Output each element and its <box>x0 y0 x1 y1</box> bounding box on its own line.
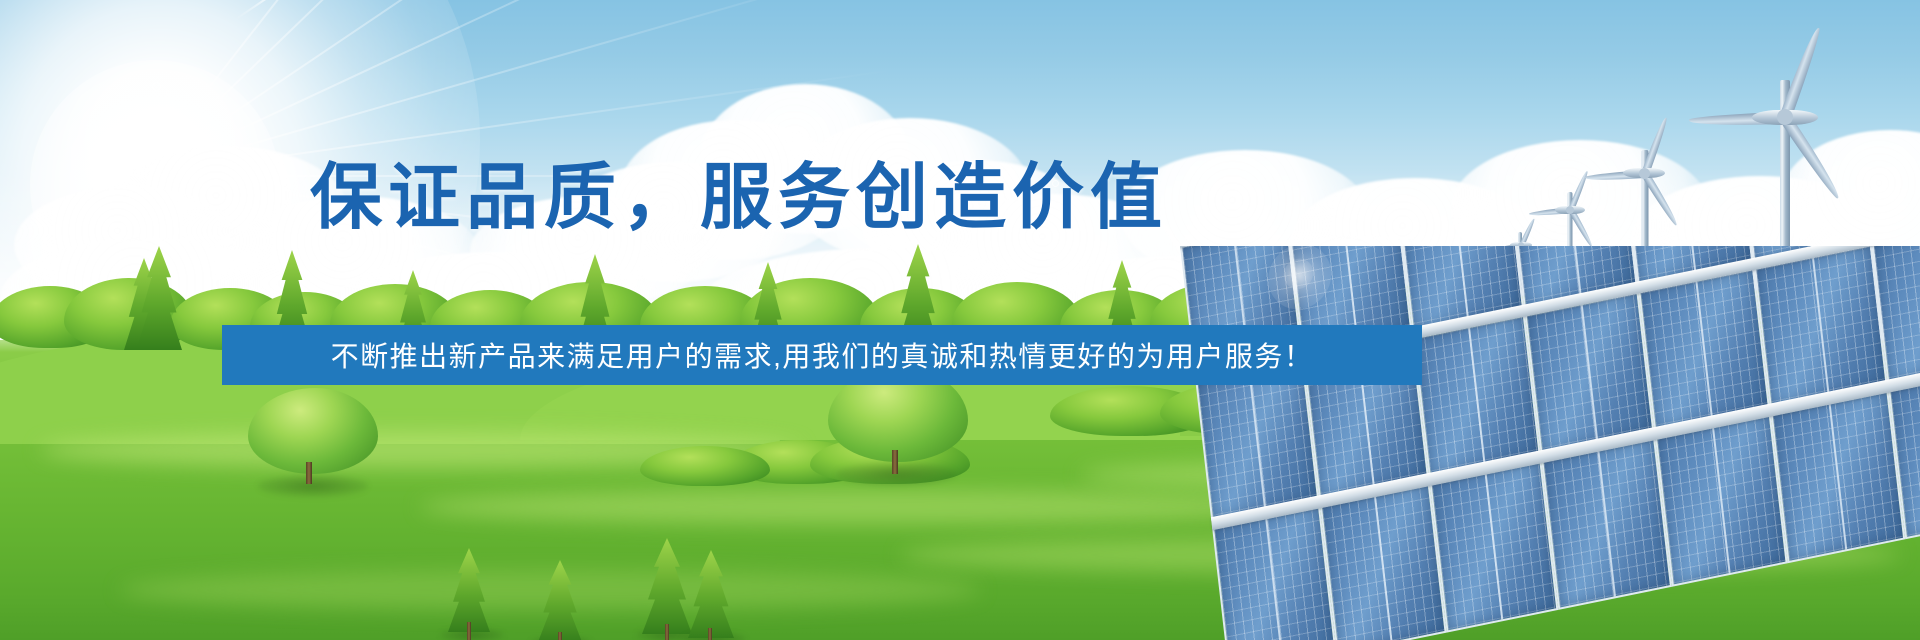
solar-panel <box>1320 483 1447 640</box>
lens-flare-dot <box>166 90 171 95</box>
panel-cell-split <box>1374 496 1393 640</box>
tree-trunk <box>708 628 712 640</box>
tree-shadow <box>258 475 368 497</box>
solar-array-inner <box>1180 246 1920 640</box>
tree-trunk <box>892 450 898 474</box>
turbine-hub <box>1777 109 1793 125</box>
tree-trunk <box>306 462 312 484</box>
page-title: 保证品质，服务创造价值 <box>310 162 1168 234</box>
panel-cell-split <box>1565 246 1581 295</box>
panel-cell-split <box>1453 246 1469 318</box>
tree-trunk <box>467 622 471 640</box>
panel-cell-split <box>1680 246 1696 272</box>
panel-cell-split <box>1485 473 1504 619</box>
panel-cell-split <box>1249 372 1266 508</box>
turbine-hub <box>1639 168 1650 179</box>
panel-cell-split <box>1597 451 1616 597</box>
panel-cell-split <box>1581 305 1598 441</box>
solar-panel <box>1413 315 1541 477</box>
solar-panel <box>1541 437 1672 610</box>
solar-panel-array <box>1180 246 1920 640</box>
tree-trunk <box>665 624 669 640</box>
solar-panel <box>1655 414 1788 587</box>
subtitle-bar: 不断推出新产品来满足用户的需求,用我们的真诚和热情更好的为用户服务！ <box>222 325 1422 385</box>
panel-cell-split <box>1812 258 1829 394</box>
turbine-hub <box>1566 206 1574 214</box>
foreground-tree <box>248 388 378 474</box>
panel-cell-split <box>1468 328 1485 464</box>
subtitle-text: 不断推出新产品来满足用户的需求,用我们的真诚和热情更好的为用户服务！ <box>331 335 1314 375</box>
lens-flare-dot <box>152 82 161 91</box>
solar-panel <box>1771 390 1906 564</box>
panel-cell-split <box>1829 403 1848 549</box>
solar-panel <box>1430 460 1559 632</box>
panel-cell-split <box>1695 282 1712 418</box>
tree-trunk <box>558 632 562 640</box>
hero-banner: 保证品质，服务创造价值 不断推出新产品来满足用户的需求,用我们的真诚和热情更好的… <box>0 0 1920 640</box>
panel-cell-split <box>1265 518 1284 640</box>
shrub-cluster <box>640 446 770 486</box>
panel-cell-split <box>1712 427 1731 573</box>
